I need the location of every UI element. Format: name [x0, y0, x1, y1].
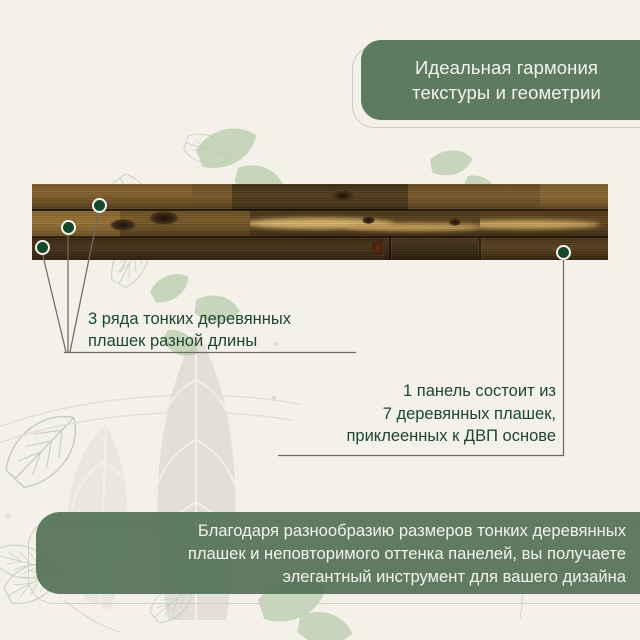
bottom-banner-line-3: элегантный инструмент для вашего дизайна	[283, 565, 627, 588]
poster-canvas: Идеальная гармония текстуры и геометрии	[0, 0, 640, 640]
callout-right-line-3: приклеенных к ДВП основе	[278, 425, 556, 448]
bottom-banner-line-2: плашек и неповторимого оттенка панелей, …	[188, 542, 626, 565]
plank-row-bottom	[32, 238, 608, 260]
bottom-banner: Благодаря разнообразию размеров тонких д…	[36, 512, 640, 594]
wood-knot	[449, 218, 461, 226]
marker-row-1[interactable]	[35, 240, 50, 255]
plank-edge	[389, 238, 391, 260]
wood-knot	[372, 241, 383, 255]
marker-row-3[interactable]	[92, 198, 107, 213]
wood-knot	[362, 216, 375, 224]
top-banner: Идеальная гармония текстуры и геометрии	[361, 40, 640, 120]
marker-row-2[interactable]	[61, 220, 76, 235]
plank	[32, 184, 192, 210]
grain-highlight	[480, 220, 600, 229]
plank	[480, 211, 608, 237]
plank	[192, 184, 232, 210]
plank	[540, 184, 608, 210]
leader-line-row-1	[42, 252, 66, 352]
plank-row-top	[32, 184, 608, 210]
plank	[408, 184, 540, 210]
plank	[478, 238, 608, 260]
plank-edge	[479, 238, 481, 260]
callout-left-line-1: 3 ряда тонких деревянных	[88, 308, 368, 330]
callout-right: 1 панель состоит из 7 деревянных плашек,…	[278, 380, 556, 448]
wood-knot	[110, 219, 136, 231]
marker-panel-right[interactable]	[556, 245, 571, 260]
top-banner-line-2: текстуры и геометрии	[412, 80, 601, 105]
plank	[232, 184, 408, 210]
callout-right-line-2: 7 деревянных плашек,	[278, 403, 556, 426]
swirl-group	[0, 342, 300, 519]
plank	[32, 211, 120, 237]
plank	[32, 238, 384, 260]
wood-knot	[149, 211, 179, 225]
plank	[384, 238, 478, 260]
callout-right-line-1: 1 панель состоит из	[278, 380, 556, 403]
callout-left-line-2: плашек разной длины	[88, 330, 368, 352]
top-banner-line-1: Идеальная гармония	[415, 55, 598, 80]
bottom-banner-line-1: Благодаря разнообразию размеров тонких д…	[198, 519, 626, 542]
plank	[250, 211, 480, 237]
wood-panel-image	[32, 184, 608, 260]
wood-knot	[332, 190, 354, 201]
callout-left: 3 ряда тонких деревянных плашек разной д…	[88, 308, 368, 352]
plank	[120, 211, 250, 237]
